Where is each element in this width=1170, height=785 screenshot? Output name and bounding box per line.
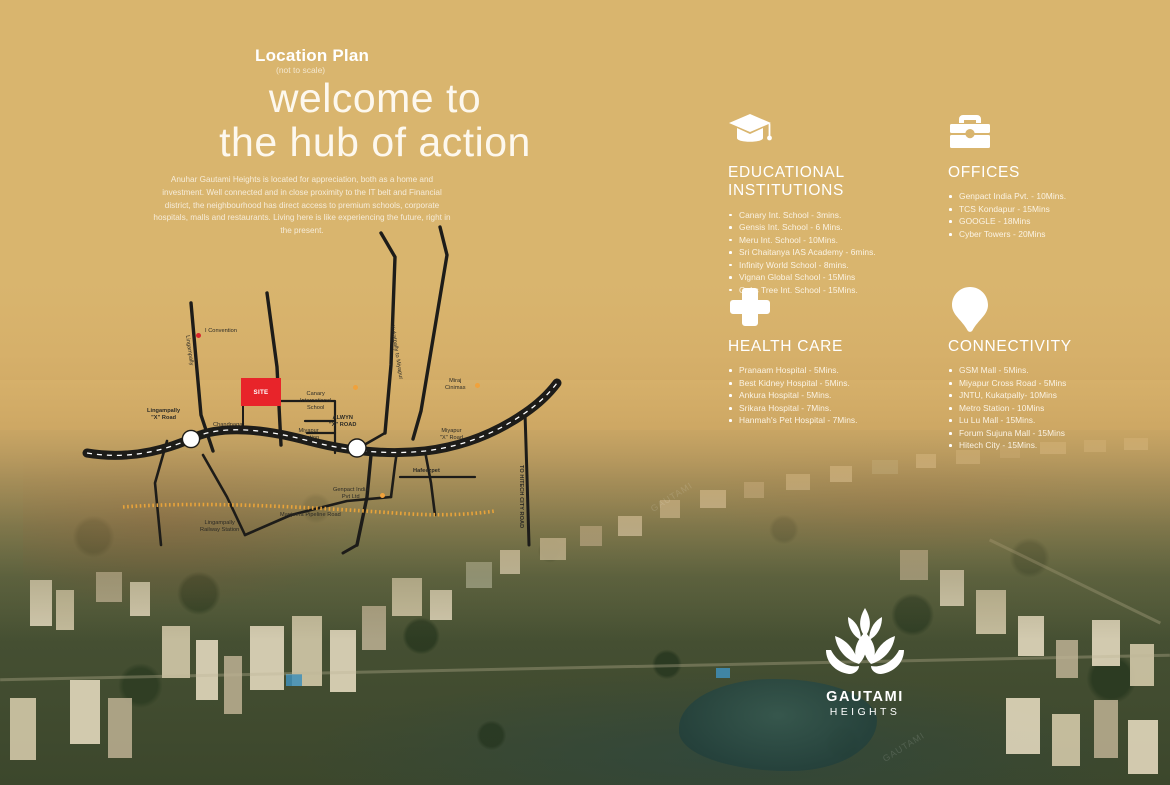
- map-label-to-hitech-city-road: TO HITECH CITY ROAD: [517, 465, 524, 528]
- road-south-tail: [343, 545, 357, 553]
- logo-name-line-1: GAUTAMI: [800, 689, 930, 705]
- amenity-title-educational: EDUCATIONAL INSTITUTIONS: [728, 164, 918, 201]
- list-item: JNTU, Kukatpally- 10Mins: [948, 390, 1138, 400]
- amenity-list-educational: Canary Int. School - 3mins. Gensis Int. …: [728, 210, 918, 295]
- list-item: Sri Chaitanya IAS Academy - 6mins.: [728, 247, 918, 257]
- page-title: Location Plan: [255, 46, 369, 66]
- road-south-left: [155, 441, 167, 545]
- list-item: TCS Kondapur - 15Mins: [948, 204, 1138, 214]
- map-label-miyapur-junction: Miyapur Junction: [298, 428, 319, 442]
- map-roads: [95, 215, 575, 555]
- list-item: Pranaam Hospital - 5Mins.: [728, 365, 918, 375]
- map-pin-icon: [948, 286, 1138, 330]
- amenity-title-healthcare: HEALTH CARE: [728, 338, 918, 356]
- road-south-alwyn: [425, 451, 435, 515]
- miraj-cinemas-dot: [475, 383, 480, 388]
- junction-alwyn: [348, 439, 366, 457]
- road-kukatpally-miyapur: [413, 227, 447, 439]
- site-marker[interactable]: SITE: [241, 378, 281, 428]
- list-item: Lu Lu Mall - 15Mins.: [948, 415, 1138, 425]
- headline-line-1: welcome to: [140, 78, 610, 120]
- lotus-leaf-icon: [815, 606, 915, 682]
- list-item: Genpact India Pvt. - 10Mins.: [948, 191, 1138, 201]
- amenity-title-connectivity: CONNECTIVITY: [948, 338, 1138, 356]
- map-label-lingampally-x-road: Lingampally "X" Road: [147, 408, 180, 422]
- road-to-hitech-city: [525, 413, 529, 545]
- location-map: SITE I Convention Lingampally "X" Road C…: [95, 215, 575, 555]
- map-label-manjeera-pipeline-road: Manjeera Pipeline Road: [280, 512, 341, 519]
- amenity-list-healthcare: Pranaam Hospital - 5Mins. Best Kidney Ho…: [728, 365, 918, 425]
- graduation-cap-icon: [728, 112, 918, 156]
- map-label-genpact: Genpact India Pvt Ltd: [333, 487, 368, 501]
- list-item: Hanmah's Pet Hospital - 7Mins.: [728, 415, 918, 425]
- map-label-lingampally-railway: Lingampally Railway Station: [200, 520, 239, 534]
- amenity-block-healthcare: HEALTH CARE Pranaam Hospital - 5Mins. Be…: [728, 286, 918, 428]
- map-label-i-convention: I Convention: [205, 328, 237, 335]
- list-item: Srikara Hospital - 7Mins.: [728, 403, 918, 413]
- map-label-miraj-cinemas: Miraj Cinimas: [445, 378, 466, 392]
- list-item: Hitech City - 15Mins.: [948, 440, 1138, 450]
- intro-paragraph: Anuhar Gautami Heights is located for ap…: [152, 174, 452, 238]
- page-subtitle: (not to scale): [276, 65, 325, 75]
- list-item: Vignan Global School - 15Mins: [728, 272, 918, 282]
- list-item: Meru Int. School - 10Mins.: [728, 235, 918, 245]
- genpact-dot: [380, 493, 385, 498]
- list-item: Best Kidney Hospital - 5Mins.: [728, 378, 918, 388]
- map-label-miyapur-x-road: Miyapur "X" Road: [440, 428, 463, 442]
- list-item: Infinity World School - 8mins.: [728, 260, 918, 270]
- briefcase-icon: [948, 112, 1138, 156]
- amenity-title-offices: OFFICES: [948, 164, 1138, 182]
- amenity-block-offices: OFFICES Genpact India Pvt. - 10Mins. TCS…: [948, 112, 1138, 241]
- amenity-block-connectivity: CONNECTIVITY GSM Mall - 5Mins. Miyapur C…: [948, 286, 1138, 453]
- location-plan-brochure: Location Plan (not to scale) welcome to …: [0, 0, 1170, 785]
- headline: welcome to the hub of action: [140, 78, 610, 164]
- map-label-alwyn-x-road: ALWYN "X" ROAD: [329, 415, 356, 429]
- list-item: Gensis Int. School - 6 Mins.: [728, 222, 918, 232]
- i-convention-dot: [196, 333, 201, 338]
- brand-logo: GAUTAMI HEIGHTS: [800, 606, 930, 718]
- site-flag-label: SITE: [241, 378, 281, 406]
- logo-name-line-2: HEIGHTS: [800, 706, 930, 718]
- list-item: GSM Mall - 5Mins.: [948, 365, 1138, 375]
- list-item: Canary Int. School - 3mins.: [728, 210, 918, 220]
- medical-cross-icon: [728, 286, 918, 330]
- canary-school-dot: [353, 385, 358, 390]
- list-item: Miyapur Cross Road - 5Mins: [948, 378, 1138, 388]
- list-item: Metro Station - 10Mins: [948, 403, 1138, 413]
- amenity-list-offices: Genpact India Pvt. - 10Mins. TCS Kondapu…: [948, 191, 1138, 239]
- list-item: Ankura Hospital - 5Mins.: [728, 390, 918, 400]
- road-pipeline-link: [391, 451, 397, 497]
- map-label-hafeezpet: Hafeezpet: [413, 468, 440, 475]
- amenity-block-educational: EDUCATIONAL INSTITUTIONS Canary Int. Sch…: [728, 112, 918, 297]
- amenity-list-connectivity: GSM Mall - 5Mins. Miyapur Cross Road - 5…: [948, 365, 1138, 450]
- map-label-canary-school: Canary International School: [300, 391, 331, 412]
- map-label-chandanagar: Chandnagar: [213, 422, 244, 429]
- headline-line-2: the hub of action: [140, 122, 610, 164]
- list-item: Forum Sujuna Mall - 15Mins: [948, 428, 1138, 438]
- list-item: Cyber Towers - 20Mins: [948, 229, 1138, 239]
- list-item: GOOGLE - 18Mins: [948, 216, 1138, 226]
- site-flag-pole: [242, 406, 244, 428]
- junction-lingampally: [182, 430, 199, 447]
